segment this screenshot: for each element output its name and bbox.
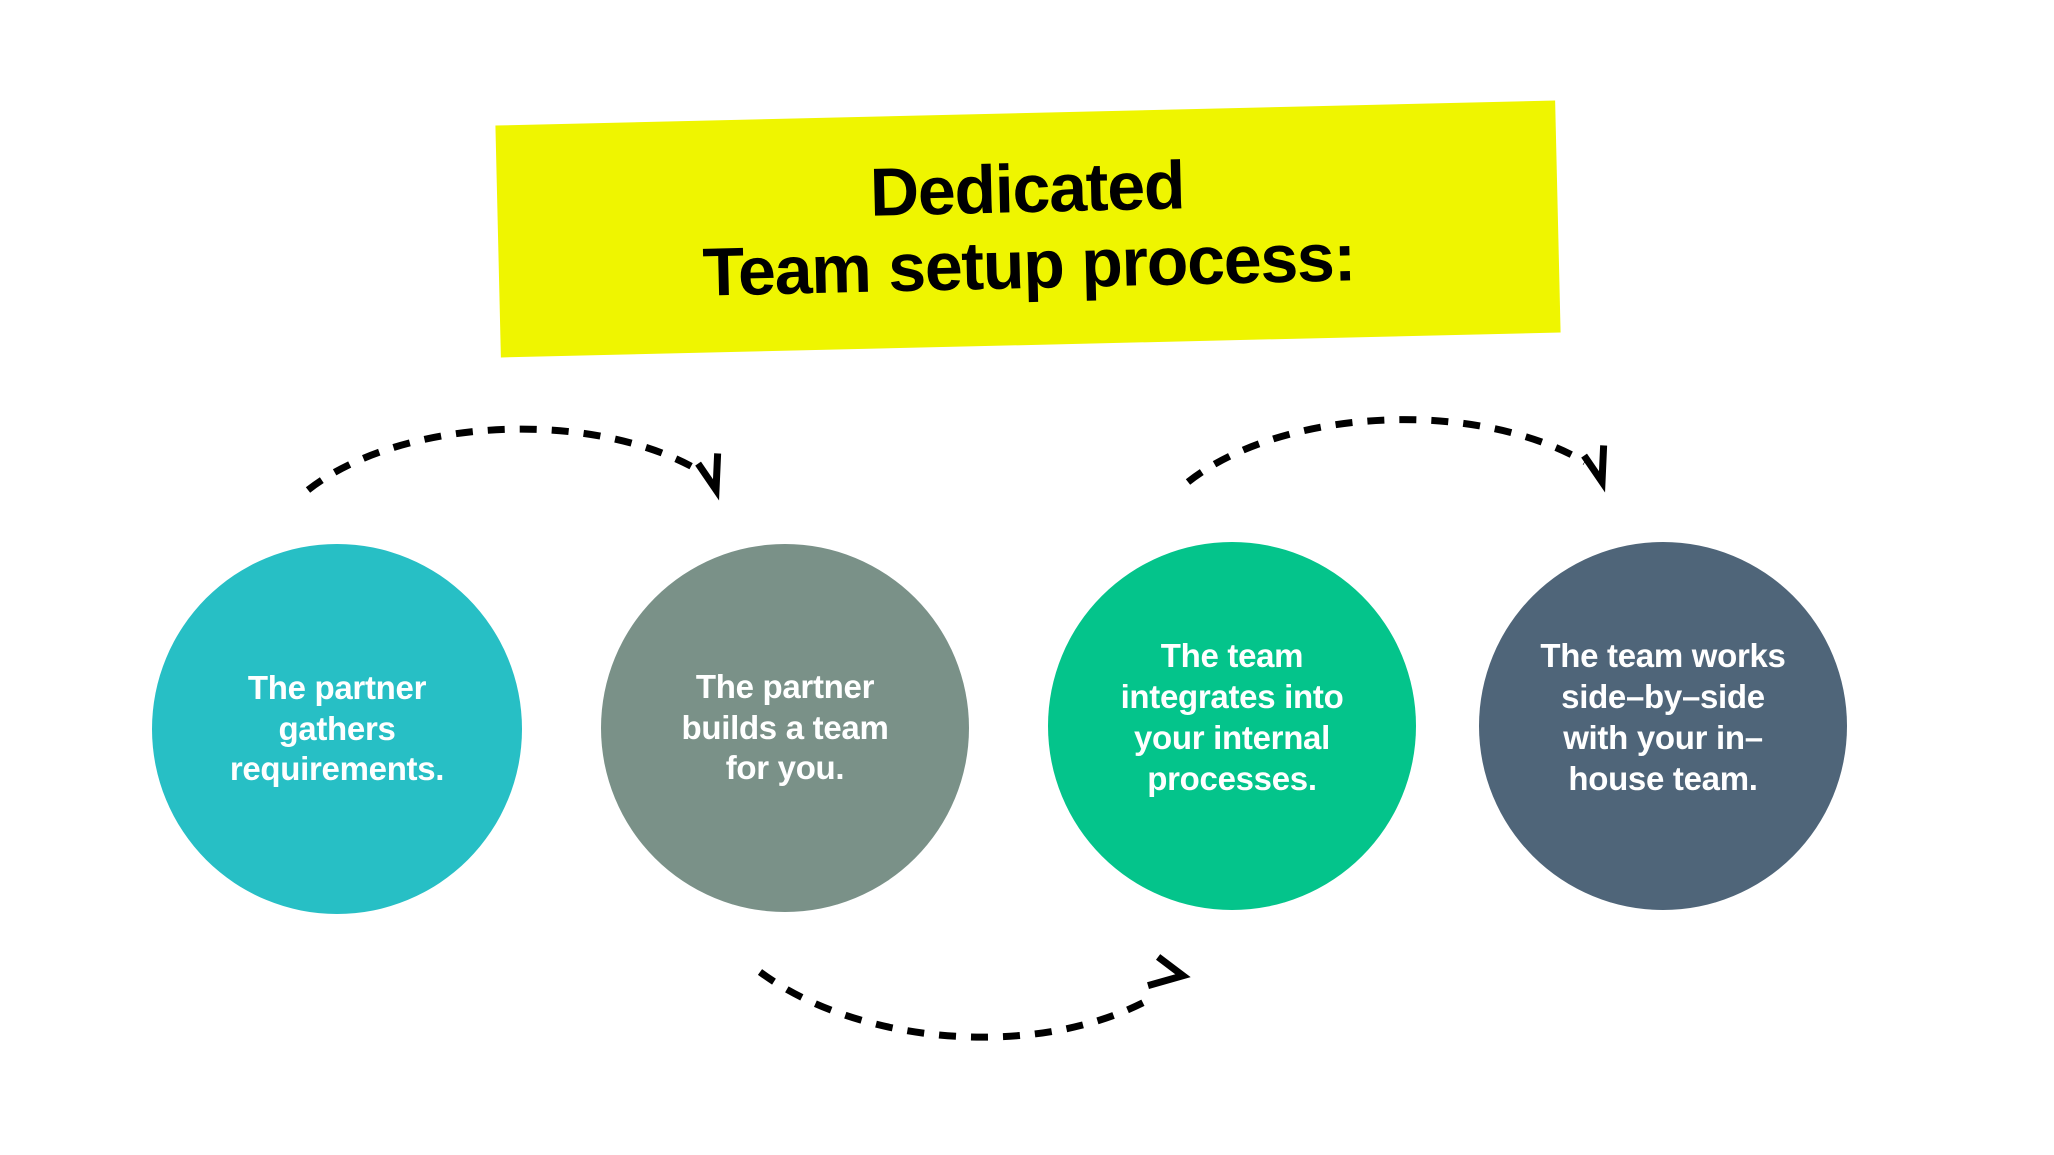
connector-arrow-2-line <box>1188 420 1585 482</box>
connector-arrow-1-line <box>308 429 698 490</box>
title-banner: Dedicated Team setup process: <box>495 101 1560 358</box>
step-circle-1-label: The partner gathers requirements. <box>216 668 458 791</box>
connector-arrow-1-head <box>694 450 724 490</box>
page-title: Dedicated Team setup process: <box>700 143 1356 311</box>
connector-arrow-1 <box>290 410 810 530</box>
step-circle-2-label: The partner builds a team for you. <box>668 667 903 790</box>
step-circle-3-label: The team integrates into your internal p… <box>1107 636 1358 800</box>
step-circle-2[interactable]: The partner builds a team for you. <box>601 544 969 912</box>
step-circle-4[interactable]: The team works side–by–side with your in… <box>1479 542 1847 910</box>
step-circle-4-label: The team works side–by–side with your in… <box>1526 636 1799 800</box>
connector-arrow-2-head <box>1580 442 1610 482</box>
connector-arrow-3-line <box>760 972 1152 1037</box>
step-circle-3[interactable]: The team integrates into your internal p… <box>1048 542 1416 910</box>
slide-canvas: Dedicated Team setup process: The partne… <box>0 0 2054 1155</box>
connector-arrow-3 <box>740 950 1280 1080</box>
connector-arrow-2 <box>1170 400 1700 520</box>
step-circle-1[interactable]: The partner gathers requirements. <box>152 544 522 914</box>
connector-arrow-3-head <box>1144 954 1183 986</box>
